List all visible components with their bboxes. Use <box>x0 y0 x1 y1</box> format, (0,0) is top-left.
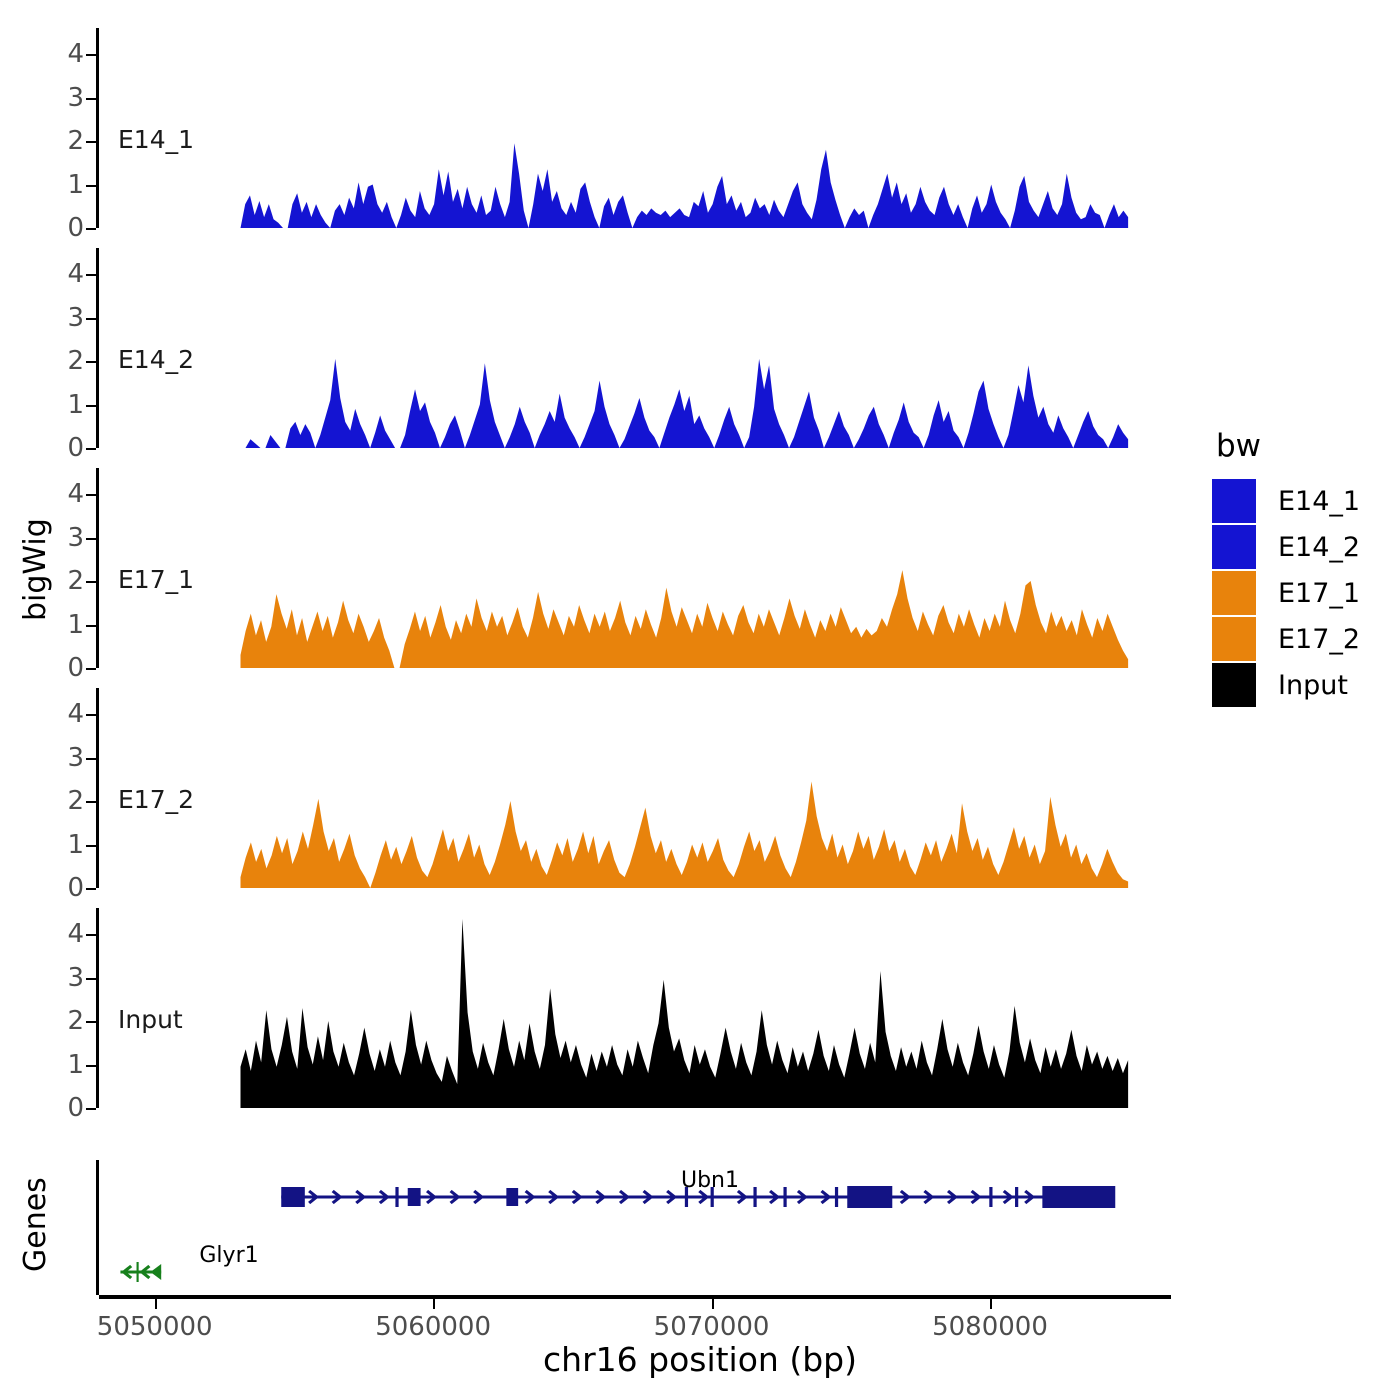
legend-label: E17_2 <box>1278 624 1360 655</box>
y-axis-tick-label: 4 <box>67 919 84 949</box>
y-axis-tick <box>86 888 96 890</box>
y-axis-tick <box>86 405 96 407</box>
y-axis-tick <box>86 801 96 803</box>
legend-label: E17_1 <box>1278 578 1360 609</box>
x-axis-tick <box>990 1299 992 1309</box>
track-panel-e14_2: 01234E14_2 <box>96 248 1171 448</box>
x-axis-tick <box>155 1299 157 1309</box>
y-axis-tick-label: 0 <box>67 873 84 903</box>
y-axis-tick-label: 3 <box>67 963 84 993</box>
y-axis-tick <box>86 274 96 276</box>
legend-swatch-e14_2 <box>1212 525 1256 569</box>
x-axis-tick-label: 5060000 <box>375 1312 491 1342</box>
legend: bw E14_1E14_2E17_1E17_2Input <box>1212 428 1360 708</box>
signal-area <box>241 919 1129 1108</box>
y-axis-tick-label: 0 <box>67 433 84 463</box>
legend-swatch-e17_2 <box>1212 617 1256 661</box>
y-axis-tick <box>86 934 96 936</box>
legend-items: E14_1E14_2E17_1E17_2Input <box>1212 478 1360 708</box>
y-axis-tick-label: 4 <box>67 259 84 289</box>
x-axis-tick-label: 5080000 <box>932 1312 1048 1342</box>
gene-label-ubn1: Ubn1 <box>681 1168 739 1193</box>
legend-label: Input <box>1278 670 1348 701</box>
y-axis-tick <box>86 228 96 230</box>
y-axis-tick <box>86 1065 96 1067</box>
legend-title: bw <box>1216 428 1360 464</box>
signal-plot-area <box>99 468 1171 668</box>
legend-swatch-e17_1 <box>1212 571 1256 615</box>
axis-label-genes: Genes <box>18 1155 58 1295</box>
genes-panel: Ubn1 Glyr1 <box>96 1160 1171 1295</box>
y-axis-tick-label: 3 <box>67 523 84 553</box>
y-axis-tick-label: 2 <box>67 566 84 596</box>
y-axis-tick <box>86 1108 96 1110</box>
y-axis-tick <box>86 581 96 583</box>
y-axis-tick <box>86 758 96 760</box>
signal-plot-area <box>99 28 1171 228</box>
axis-label-bigwig: bigWig <box>18 470 58 670</box>
y-axis-tick-label: 2 <box>67 126 84 156</box>
y-axis-tick-label: 3 <box>67 743 84 773</box>
y-axis-tick <box>86 668 96 670</box>
x-axis-tick-label: 5070000 <box>654 1312 770 1342</box>
y-axis-tick-label: 0 <box>67 653 84 683</box>
y-axis-tick <box>86 1021 96 1023</box>
legend-swatch-e14_1 <box>1212 479 1256 523</box>
y-axis-tick <box>86 98 96 100</box>
genes-plot-area <box>99 1160 1171 1295</box>
y-axis-tick-label: 1 <box>67 390 84 420</box>
y-axis-tick-label: 2 <box>67 786 84 816</box>
figure-root: bigWig Genes 01234E14_101234E14_201234E1… <box>0 0 1400 1400</box>
x-axis-tick <box>433 1299 435 1309</box>
legend-label: E14_2 <box>1278 532 1360 563</box>
y-axis-tick <box>86 494 96 496</box>
signal-area <box>241 359 1129 448</box>
signal-area <box>241 781 1129 888</box>
legend-item-input[interactable]: Input <box>1212 662 1360 708</box>
signal-plot-area <box>99 248 1171 448</box>
track-panel-input: 01234Input <box>96 908 1171 1108</box>
y-axis-tick-label: 1 <box>67 1050 84 1080</box>
track-panel-e14_1: 01234E14_1 <box>96 28 1171 228</box>
legend-swatch-input <box>1212 663 1256 707</box>
legend-item-e14_1[interactable]: E14_1 <box>1212 478 1360 524</box>
x-axis-tick-label: 5050000 <box>97 1312 213 1342</box>
y-axis-tick <box>86 538 96 540</box>
y-axis-tick <box>86 714 96 716</box>
y-axis-tick-label: 1 <box>67 610 84 640</box>
y-axis-tick-label: 2 <box>67 1006 84 1036</box>
legend-item-e14_2[interactable]: E14_2 <box>1212 524 1360 570</box>
y-axis-tick <box>86 625 96 627</box>
signal-plot-area <box>99 908 1171 1108</box>
signal-area <box>241 143 1129 228</box>
x-axis-line <box>99 1295 1171 1299</box>
signal-area <box>241 570 1129 668</box>
y-axis-tick-label: 4 <box>67 479 84 509</box>
x-axis-title: chr16 position (bp) <box>0 1340 1400 1379</box>
x-axis-tick <box>712 1299 714 1309</box>
y-axis-tick-label: 2 <box>67 346 84 376</box>
y-axis-tick <box>86 318 96 320</box>
track-panel-e17_2: 01234E17_2 <box>96 688 1171 888</box>
signal-plot-area <box>99 688 1171 888</box>
y-axis-tick <box>86 448 96 450</box>
legend-item-e17_1[interactable]: E17_1 <box>1212 570 1360 616</box>
y-axis-tick-label: 0 <box>67 213 84 243</box>
legend-label: E14_1 <box>1278 486 1360 517</box>
gene-label-glyr1: Glyr1 <box>199 1243 258 1268</box>
gene-glyr1 <box>120 1262 161 1282</box>
y-axis-tick-label: 4 <box>67 39 84 69</box>
y-axis-tick-label: 3 <box>67 303 84 333</box>
y-axis-tick <box>86 845 96 847</box>
y-axis-tick-label: 4 <box>67 699 84 729</box>
legend-item-e17_2[interactable]: E17_2 <box>1212 616 1360 662</box>
y-axis-tick <box>86 141 96 143</box>
y-axis-tick <box>86 361 96 363</box>
y-axis-tick-label: 1 <box>67 830 84 860</box>
y-axis-tick <box>86 185 96 187</box>
y-axis-tick-label: 0 <box>67 1093 84 1123</box>
y-axis-tick <box>86 978 96 980</box>
y-axis-tick-label: 1 <box>67 170 84 200</box>
track-panel-e17_1: 01234E17_1 <box>96 468 1171 668</box>
y-axis-tick <box>86 54 96 56</box>
y-axis-tick-label: 3 <box>67 83 84 113</box>
